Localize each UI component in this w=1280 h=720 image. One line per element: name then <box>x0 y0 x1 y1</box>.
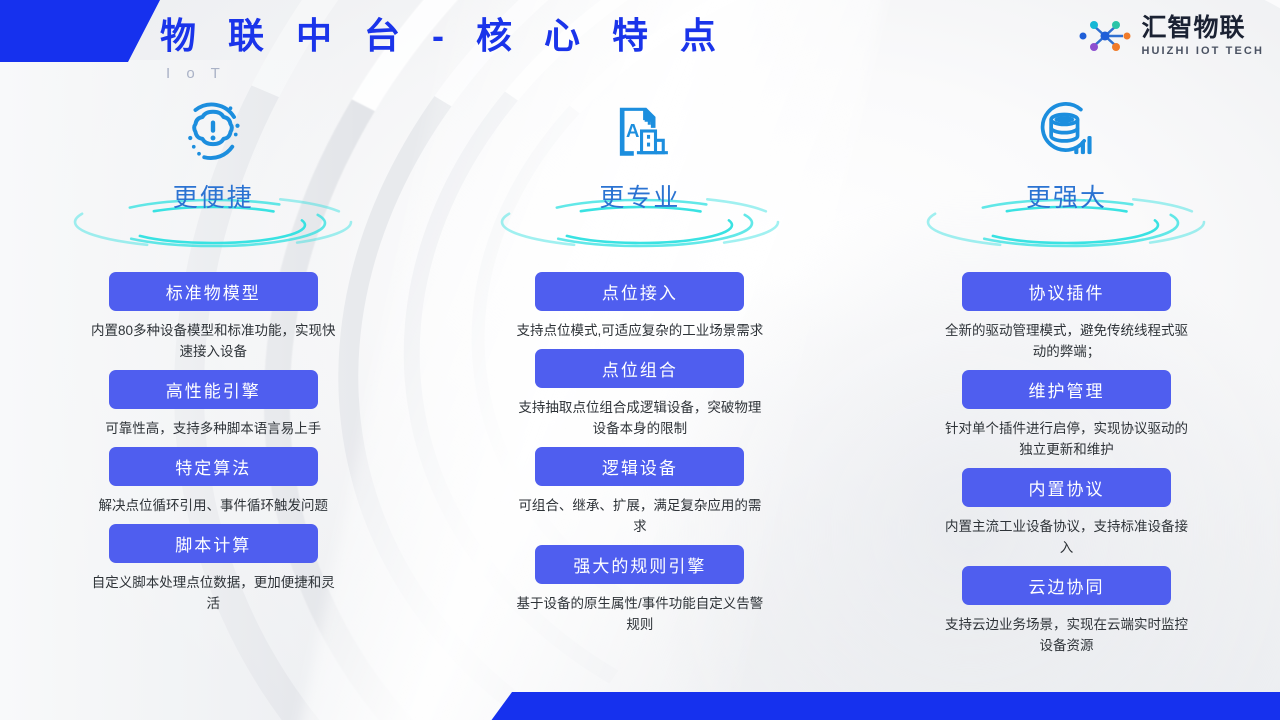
feature-item: 点位接入 支持点位模式,可适应复杂的工业场景需求 <box>427 272 854 341</box>
feature-item: 云边协同 支持云边业务场景，实现在云端实时监控设备资源 <box>853 566 1280 656</box>
feature-pill[interactable]: 内置协议 <box>962 468 1171 507</box>
feature-description: 基于设备的原生属性/事件功能自定义告警规则 <box>512 593 768 635</box>
column-more-powerful: 更强大 协议插件 全新的驱动管理模式，避免传统线程式驱动的弊端； 维护管理 <box>853 96 1280 664</box>
feature-pill[interactable]: 高性能引擎 <box>109 370 318 409</box>
feature-pill[interactable]: 云边协同 <box>962 566 1171 605</box>
feature-item: 特定算法 解决点位循环引用、事件循环触发问题 <box>0 447 427 516</box>
logo-name-en: HUIZHI IOT TECH <box>1141 46 1264 57</box>
feature-description: 内置80多种设备模型和标准功能，实现快速接入设备 <box>85 320 341 362</box>
feature-description: 可靠性高，支持多种脚本语言易上手 <box>85 418 341 439</box>
feature-list: 点位接入 支持点位模式,可适应复杂的工业场景需求 点位组合 支持抽取点位组合成逻… <box>427 272 854 643</box>
logo-name-cn: 汇智物联 <box>1141 16 1264 41</box>
feature-item: 强大的规则引擎 基于设备的原生属性/事件功能自定义告警规则 <box>427 545 854 635</box>
gear-brain-icon <box>178 96 248 166</box>
feature-description: 内置主流工业设备协议，支持标准设备接入 <box>938 516 1194 558</box>
feature-pill[interactable]: 点位接入 <box>535 272 744 311</box>
feature-list: 标准物模型 内置80多种设备模型和标准功能，实现快速接入设备 高性能引擎 可靠性… <box>0 272 427 622</box>
feature-item: 标准物模型 内置80多种设备模型和标准功能，实现快速接入设备 <box>0 272 427 362</box>
feature-item: 脚本计算 自定义脚本处理点位数据，更加便捷和灵活 <box>0 524 427 614</box>
database-chart-icon <box>1033 96 1099 166</box>
feature-pill[interactable]: 协议插件 <box>962 272 1171 311</box>
feature-description: 支持点位模式,可适应复杂的工业场景需求 <box>512 320 768 341</box>
feature-item: 逻辑设备 可组合、继承、扩展，满足复杂应用的需求 <box>427 447 854 537</box>
feature-pill[interactable]: 强大的规则引擎 <box>535 545 744 584</box>
feature-description: 可组合、继承、扩展，满足复杂应用的需求 <box>512 495 768 537</box>
page-subtitle: I o T <box>166 65 226 82</box>
slide-root: 物 联 中 台 - 核 心 特 点 I o T 汇智物联 HUIZHI <box>0 0 1280 720</box>
brand-logo: 汇智物联 HUIZHI IOT TECH <box>1077 14 1264 58</box>
column-more-convenient: 更便捷 标准物模型 内置80多种设备模型和标准功能，实现快速接入设备 高性能引擎 <box>0 96 427 664</box>
svg-text:A: A <box>626 120 639 141</box>
feature-item: 高性能引擎 可靠性高，支持多种脚本语言易上手 <box>0 370 427 439</box>
document-grade-building-icon: A <box>609 96 671 166</box>
column-heading: 更专业 <box>599 178 680 214</box>
feature-pill[interactable]: 特定算法 <box>109 447 318 486</box>
feature-description: 支持抽取点位组合成逻辑设备，突破物理设备本身的限制 <box>512 397 768 439</box>
feature-list: 协议插件 全新的驱动管理模式，避免传统线程式驱动的弊端； 维护管理 针对单个插件… <box>853 272 1280 664</box>
network-nodes-icon <box>1077 14 1133 58</box>
feature-pill[interactable]: 点位组合 <box>535 349 744 388</box>
page-title: 物 联 中 台 - 核 心 特 点 <box>160 13 727 59</box>
column-heading: 更便捷 <box>173 178 254 214</box>
feature-pill[interactable]: 脚本计算 <box>109 524 318 563</box>
feature-description: 针对单个插件进行启停，实现协议驱动的独立更新和维护 <box>938 418 1194 460</box>
feature-pill[interactable]: 标准物模型 <box>109 272 318 311</box>
feature-columns: 更便捷 标准物模型 内置80多种设备模型和标准功能，实现快速接入设备 高性能引擎 <box>0 96 1280 664</box>
feature-description: 全新的驱动管理模式，避免传统线程式驱动的弊端； <box>938 320 1194 362</box>
feature-description: 自定义脚本处理点位数据，更加便捷和灵活 <box>85 572 341 614</box>
feature-pill[interactable]: 维护管理 <box>962 370 1171 409</box>
feature-item: 维护管理 针对单个插件进行启停，实现协议驱动的独立更新和维护 <box>853 370 1280 460</box>
feature-item: 点位组合 支持抽取点位组合成逻辑设备，突破物理设备本身的限制 <box>427 349 854 439</box>
feature-item: 内置协议 内置主流工业设备协议，支持标准设备接入 <box>853 468 1280 558</box>
feature-pill[interactable]: 逻辑设备 <box>535 447 744 486</box>
column-heading: 更强大 <box>1026 178 1107 214</box>
feature-description: 支持云边业务场景，实现在云端实时监控设备资源 <box>938 614 1194 656</box>
feature-description: 解决点位循环引用、事件循环触发问题 <box>85 495 341 516</box>
column-more-professional: A 更专业 <box>427 96 854 664</box>
feature-item: 协议插件 全新的驱动管理模式，避免传统线程式驱动的弊端； <box>853 272 1280 362</box>
